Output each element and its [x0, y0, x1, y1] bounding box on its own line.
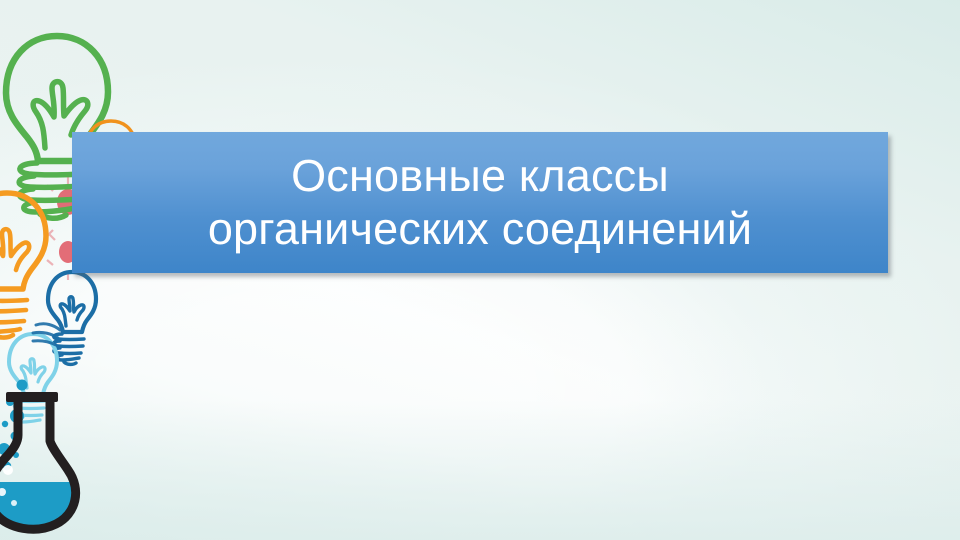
title-banner: Основные классы органических соединений [72, 132, 888, 273]
slide-background-tint-bottom [0, 400, 960, 540]
slide-canvas: Основные классы органических соединений [0, 0, 960, 540]
page-title: Основные классы органических соединений [198, 150, 762, 254]
